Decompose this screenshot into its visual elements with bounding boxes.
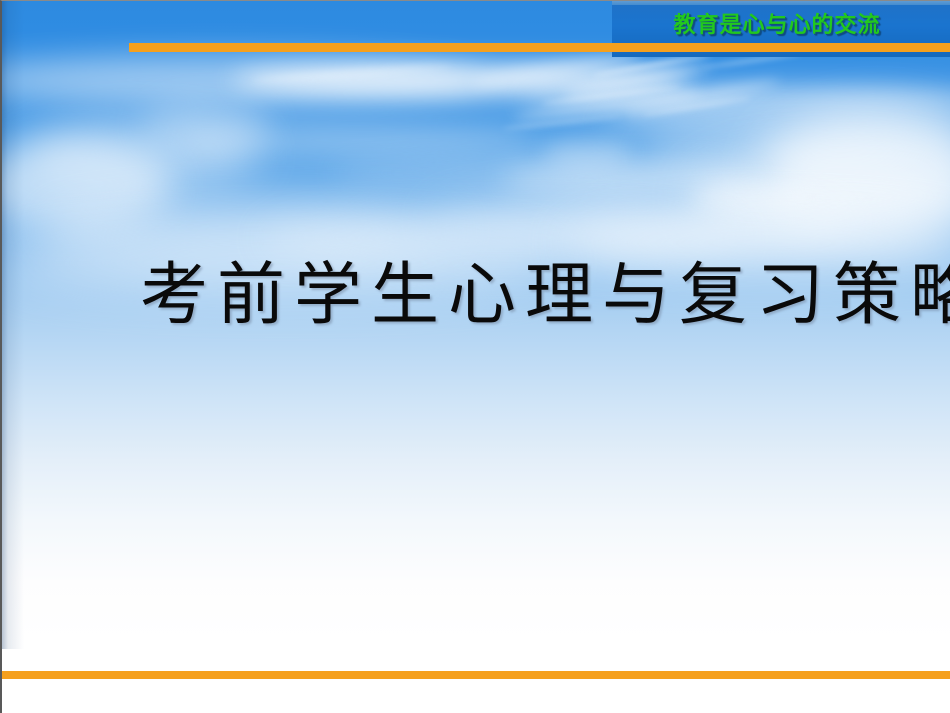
slide-title: 考前学生心理与复习策略 (140, 253, 860, 339)
top-orange-rule (129, 43, 950, 52)
presentation-slide: 教育是心与心的交流 考前学生心理与复习策略 (0, 0, 950, 713)
bottom-orange-rule (2, 671, 950, 679)
footer-area (2, 649, 950, 713)
banner-slogan-text: 教育是心与心的交流 (612, 9, 942, 43)
